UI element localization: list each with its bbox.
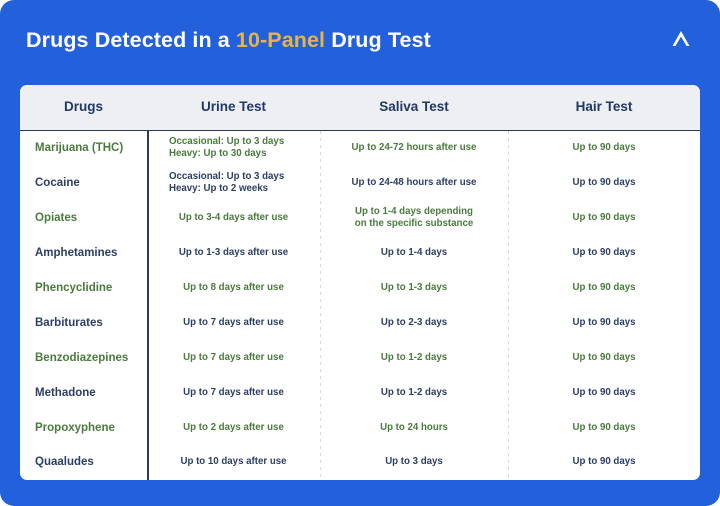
cell-drug-name-text: Marijuana (THC) [35, 142, 123, 154]
infographic-card: Drugs Detected in a 10-Panel Drug Test D… [0, 0, 720, 506]
cell-drug-name-text: Phencyclidine [35, 282, 112, 294]
cell-hair-test-text: Up to 90 days [573, 456, 636, 468]
cell-drug-name: Barbiturates [20, 305, 147, 340]
cell-saliva-test: Up to 24-72 hours after use [320, 131, 508, 166]
cell-drug-name: Cocaine [20, 166, 147, 201]
cell-drug-name: Methadone [20, 375, 147, 410]
table-row: Marijuana (THC)Occasional: Up to 3 days … [20, 131, 700, 166]
cell-saliva-test: Up to 24-48 hours after use [320, 166, 508, 201]
cell-saliva-test: Up to 1-2 days [320, 375, 508, 410]
cell-saliva-test: Up to 24 hours [320, 410, 508, 445]
cell-urine-test: Up to 10 days after use [147, 445, 320, 480]
title-text-trailing: Drug Test [325, 28, 431, 52]
column-header-hair-test: Hair Test [508, 85, 700, 129]
column-header-urine-test: Urine Test [147, 85, 320, 129]
cell-hair-test-text: Up to 90 days [573, 247, 636, 259]
cell-hair-test-text: Up to 90 days [573, 422, 636, 434]
table-body: Marijuana (THC)Occasional: Up to 3 days … [20, 131, 700, 480]
cell-hair-test-text: Up to 90 days [573, 317, 636, 329]
table-row: PropoxypheneUp to 2 days after useUp to … [20, 410, 700, 445]
cell-urine-test: Up to 2 days after use [147, 410, 320, 445]
cell-drug-name-text: Quaaludes [35, 456, 94, 468]
cell-urine-test-text: Up to 1-3 days after use [179, 247, 288, 259]
cell-saliva-test: Up to 2-3 days [320, 305, 508, 340]
cell-urine-test: Up to 3-4 days after use [147, 201, 320, 236]
cell-urine-test-text: Up to 3-4 days after use [179, 212, 288, 224]
cell-hair-test: Up to 90 days [508, 375, 700, 410]
cell-urine-test: Occasional: Up to 3 days Heavy: Up to 30… [147, 131, 320, 166]
page-title: Drugs Detected in a 10-Panel Drug Test [26, 28, 431, 53]
cell-saliva-test-text: Up to 1-2 days [381, 387, 447, 399]
cell-drug-name-text: Amphetamines [35, 247, 117, 259]
cell-hair-test: Up to 90 days [508, 201, 700, 236]
table-row: QuaaludesUp to 10 days after useUp to 3 … [20, 445, 700, 480]
cell-saliva-test-text: Up to 24 hours [380, 422, 448, 434]
cell-saliva-test: Up to 1-4 days depending on the specific… [320, 201, 508, 236]
table-row: BenzodiazepinesUp to 7 days after useUp … [20, 340, 700, 375]
cell-drug-name: Propoxyphene [20, 410, 147, 445]
cell-urine-test-text: Up to 2 days after use [183, 422, 284, 434]
cell-urine-test: Up to 1-3 days after use [147, 236, 320, 271]
cell-urine-test: Occasional: Up to 3 days Heavy: Up to 2 … [147, 166, 320, 201]
cell-saliva-test-text: Up to 1-4 days depending on the specific… [355, 206, 473, 230]
cell-drug-name-text: Cocaine [35, 177, 80, 189]
cell-urine-test-text: Occasional: Up to 3 days Heavy: Up to 2 … [169, 171, 284, 195]
table-row: AmphetaminesUp to 1-3 days after useUp t… [20, 236, 700, 271]
cell-drug-name: Quaaludes [20, 445, 147, 480]
cell-drug-name: Opiates [20, 201, 147, 236]
cell-urine-test-text: Up to 8 days after use [183, 282, 284, 294]
table-row: MethadoneUp to 7 days after useUp to 1-2… [20, 375, 700, 410]
cell-urine-test-text: Up to 7 days after use [183, 317, 284, 329]
table-row: OpiatesUp to 3-4 days after useUp to 1-4… [20, 201, 700, 236]
cell-hair-test: Up to 90 days [508, 410, 700, 445]
cell-drug-name-text: Benzodiazepines [35, 352, 128, 364]
cell-drug-name: Amphetamines [20, 236, 147, 271]
table-row: BarbituratesUp to 7 days after useUp to … [20, 305, 700, 340]
cell-urine-test: Up to 7 days after use [147, 375, 320, 410]
title-text-leading: Drugs Detected in a [26, 28, 236, 52]
column-header-saliva-test: Saliva Test [320, 85, 508, 129]
cell-saliva-test: Up to 1-4 days [320, 236, 508, 271]
cell-hair-test-text: Up to 90 days [573, 282, 636, 294]
table-header-row: Drugs Urine Test Saliva Test Hair Test [20, 85, 700, 131]
cell-urine-test-text: Occasional: Up to 3 days Heavy: Up to 30… [169, 136, 284, 160]
cell-hair-test-text: Up to 90 days [573, 387, 636, 399]
cell-urine-test-text: Up to 7 days after use [183, 387, 284, 399]
cell-saliva-test: Up to 1-2 days [320, 340, 508, 375]
cell-urine-test: Up to 7 days after use [147, 305, 320, 340]
cell-urine-test-text: Up to 10 days after use [180, 456, 286, 468]
cell-saliva-test-text: Up to 1-4 days [381, 247, 447, 259]
cell-saliva-test-text: Up to 3 days [385, 456, 443, 468]
title-accent-10-panel: 10-Panel [236, 28, 325, 52]
cell-drug-name-text: Propoxyphene [35, 422, 115, 434]
cell-drug-name: Benzodiazepines [20, 340, 147, 375]
cell-hair-test-text: Up to 90 days [573, 212, 636, 224]
cell-hair-test: Up to 90 days [508, 271, 700, 306]
cell-drug-name-text: Opiates [35, 212, 77, 224]
cell-saliva-test: Up to 1-3 days [320, 271, 508, 306]
chevron-up-logo-icon [668, 26, 694, 52]
cell-saliva-test: Up to 3 days [320, 445, 508, 480]
cell-hair-test-text: Up to 90 days [573, 142, 636, 154]
cell-urine-test: Up to 8 days after use [147, 271, 320, 306]
card-header: Drugs Detected in a 10-Panel Drug Test [0, 0, 720, 84]
cell-hair-test: Up to 90 days [508, 166, 700, 201]
cell-drug-name-text: Methadone [35, 387, 96, 399]
data-table-panel: Drugs Urine Test Saliva Test Hair Test M… [20, 85, 700, 480]
cell-urine-test: Up to 7 days after use [147, 340, 320, 375]
cell-hair-test: Up to 90 days [508, 236, 700, 271]
cell-hair-test: Up to 90 days [508, 131, 700, 166]
cell-drug-name: Marijuana (THC) [20, 131, 147, 166]
table-row: CocaineOccasional: Up to 3 days Heavy: U… [20, 166, 700, 201]
cell-saliva-test-text: Up to 1-2 days [381, 352, 447, 364]
cell-hair-test-text: Up to 90 days [573, 177, 636, 189]
cell-drug-name-text: Barbiturates [35, 317, 103, 329]
cell-saliva-test-text: Up to 2-3 days [381, 317, 447, 329]
cell-urine-test-text: Up to 7 days after use [183, 352, 284, 364]
cell-hair-test: Up to 90 days [508, 305, 700, 340]
cell-hair-test: Up to 90 days [508, 340, 700, 375]
cell-saliva-test-text: Up to 1-3 days [381, 282, 447, 294]
cell-hair-test-text: Up to 90 days [573, 352, 636, 364]
cell-hair-test: Up to 90 days [508, 445, 700, 480]
column-header-drugs: Drugs [20, 85, 147, 129]
table-row: PhencyclidineUp to 8 days after useUp to… [20, 271, 700, 306]
cell-drug-name: Phencyclidine [20, 271, 147, 306]
cell-saliva-test-text: Up to 24-48 hours after use [352, 177, 477, 189]
cell-saliva-test-text: Up to 24-72 hours after use [352, 142, 477, 154]
